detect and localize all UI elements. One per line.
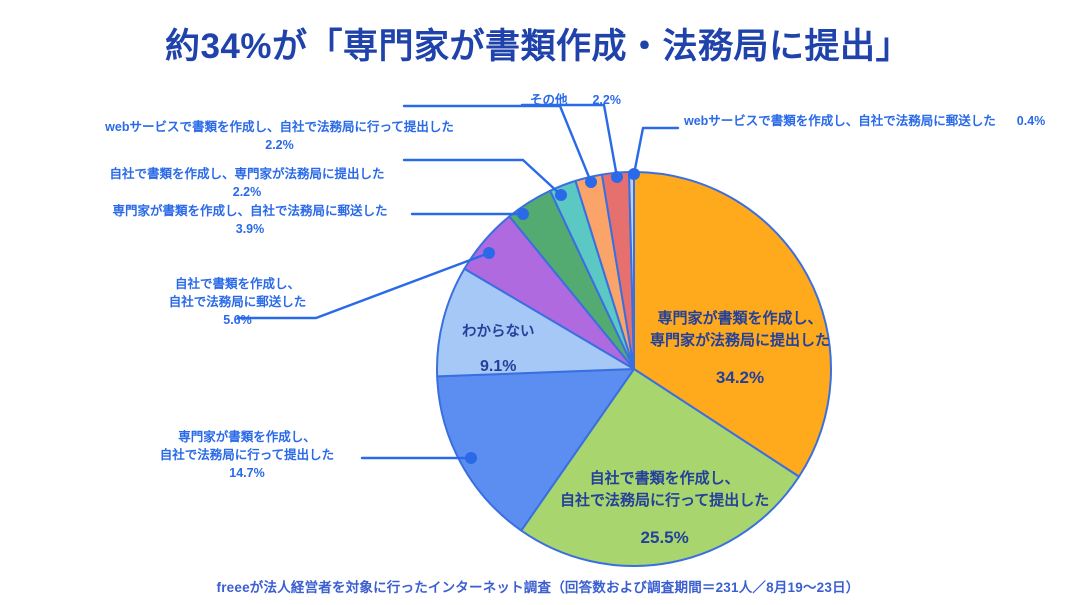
callout-self-specialist: 自社で書類を作成し、専門家が法務局に提出した 2.2% <box>94 165 400 201</box>
callout-name2: 自社で法務局に郵送した <box>140 293 335 311</box>
leader-line-slice-web-self-mail <box>634 128 678 174</box>
callout-name2: 自社で法務局に行って提出した <box>132 446 362 464</box>
chart-canvas: 約34%が「専門家が書類作成・法務局に提出」 専門家が書類を作成し、 専門家が法… <box>0 0 1076 605</box>
slice-label-pct: 9.1% <box>462 355 535 378</box>
callout-web-self-mail: webサービスで書類を作成し、自社で法務局に郵送した 0.4% <box>684 112 1045 130</box>
leader-line-slice-self-specialist <box>404 160 561 195</box>
callout-pct: 14.7% <box>132 464 362 482</box>
slice-label-line1: 自社で書類を作成し、 <box>560 468 769 490</box>
callout-pct: 2.2% <box>94 183 400 201</box>
callout-name: 自社で書類を作成し、専門家が法務局に提出した <box>109 167 384 181</box>
callout-name: webサービスで書類を作成し、自社で法務局に行って提出した <box>105 120 454 134</box>
slice-label-line2: 自社で法務局に行って提出した <box>560 490 769 512</box>
leader-dot-slice-specialist-self-visit[interactable] <box>465 452 477 464</box>
callout-self-self-mail: 自社で書類を作成し、 自社で法務局に郵送した 5.6% <box>140 275 335 329</box>
slice-label-line1: 専門家が書類を作成し、 <box>650 308 830 330</box>
callout-name: 専門家が書類を作成し、自社で法務局に郵送した <box>112 204 387 218</box>
leader-dot-slice-other[interactable] <box>611 171 623 183</box>
slice-label-self-self-visit: 自社で書類を作成し、 自社で法務局に行って提出した 25.5% <box>560 468 769 550</box>
callout-other: その他 2.2% <box>530 91 621 109</box>
leader-dot-slice-web-self-mail[interactable] <box>628 168 640 180</box>
callout-pct: 2.2% <box>592 93 621 107</box>
callout-name: webサービスで書類を作成し、自社で法務局に郵送した <box>684 114 996 128</box>
leader-dot-slice-self-self-mail[interactable] <box>483 247 495 259</box>
callout-pct: 3.9% <box>97 220 403 238</box>
source-footnote: freeeが法人経営者を対象に行ったインターネット調査（回答数および調査期間＝2… <box>0 576 1076 596</box>
callout-name: その他 <box>530 93 568 107</box>
slice-label-pct: 34.2% <box>650 366 830 391</box>
callout-web-self-visit: webサービスで書類を作成し、自社で法務局に行って提出した 2.2% <box>87 118 472 154</box>
slice-label-pct: 25.5% <box>560 526 769 551</box>
slice-label-specialist-specialist: 専門家が書類を作成し、 専門家が法務局に提出した 34.2% <box>650 308 830 390</box>
callout-pct: 0.4% <box>1017 114 1046 128</box>
callout-pct: 2.2% <box>87 136 472 154</box>
callout-specialist-self-visit: 専門家が書類を作成し、 自社で法務局に行って提出した 14.7% <box>132 428 362 482</box>
callout-specialist-self-mail: 専門家が書類を作成し、自社で法務局に郵送した 3.9% <box>97 202 403 238</box>
slice-label-unknown: わからない 9.1% <box>462 322 535 378</box>
leader-line-slice-other <box>522 105 617 177</box>
callout-name: 自社で書類を作成し、 <box>175 277 300 291</box>
callout-name: 専門家が書類を作成し、 <box>178 430 316 444</box>
leader-dot-slice-specialist-self-mail[interactable] <box>517 208 529 220</box>
slice-label-line2: 専門家が法務局に提出した <box>650 330 830 352</box>
slice-label-line1: わからない <box>462 322 535 343</box>
leader-dot-slice-self-specialist[interactable] <box>555 189 567 201</box>
leader-dot-slice-web-self-visit[interactable] <box>585 176 597 188</box>
callout-pct: 5.6% <box>140 311 335 329</box>
